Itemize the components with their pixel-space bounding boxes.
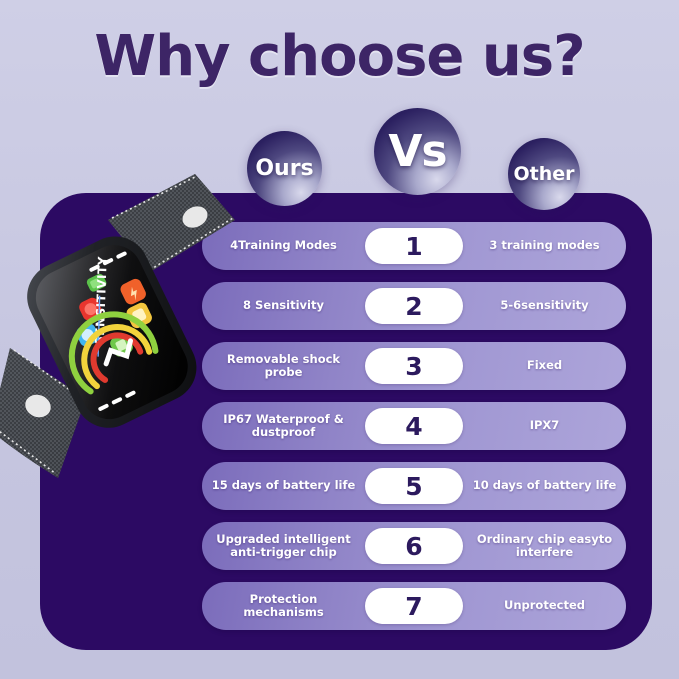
row-number: 1 [365,228,463,264]
badge-vs: Vs [374,108,461,195]
product-image-smartwatch: SENSITIVITY [0,160,240,490]
row-number: 3 [365,348,463,384]
row-number: 4 [365,408,463,444]
page-title: Why choose us? [0,24,679,89]
badge-other: Other [508,138,580,210]
table-row: Removable shock probe 3 Fixed [202,342,626,390]
row-number: 7 [365,588,463,624]
row-other-value: 5-6sensitivity [463,299,626,313]
row-ours-value: Upgraded intelligent anti-trigger chip [202,533,365,560]
badge-ours: Ours [247,131,322,206]
table-row: IP67 Waterproof & dustproof 4 IPX7 [202,402,626,450]
row-other-value: Ordinary chip easyto interfere [463,533,626,560]
table-row: 4Training Modes 1 3 training modes [202,222,626,270]
table-row: 8 Sensitivity 2 5-6sensitivity [202,282,626,330]
table-row: 15 days of battery life 5 10 days of bat… [202,462,626,510]
row-other-value: IPX7 [463,419,626,433]
infographic-root: Why choose us? Ours Vs Other [0,0,679,679]
row-other-value: Unprotected [463,599,626,613]
table-row: Protection mechanisms 7 Unprotected [202,582,626,630]
row-other-value: Fixed [463,359,626,373]
table-row: Upgraded intelligent anti-trigger chip 6… [202,522,626,570]
comparison-rows: 4Training Modes 1 3 training modes 8 Sen… [202,222,626,642]
row-number: 6 [365,528,463,564]
row-ours-value: Protection mechanisms [202,593,365,620]
row-number: 5 [365,468,463,504]
row-other-value: 3 training modes [463,239,626,253]
row-number: 2 [365,288,463,324]
row-other-value: 10 days of battery life [463,479,626,493]
